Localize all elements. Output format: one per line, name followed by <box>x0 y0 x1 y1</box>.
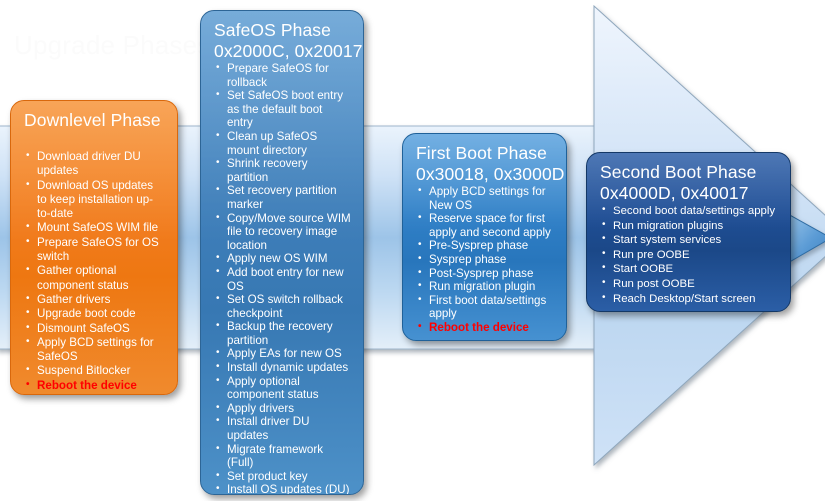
phase-card-safeos[interactable]: SafeOS Phase 0x2000C, 0x20017 Prepare Sa… <box>200 10 364 495</box>
phase-step-item: Post-Sysprep phase <box>416 267 554 281</box>
phase-step-item: Apply BCD settings for SafeOS <box>24 336 165 365</box>
phase-title: Downlevel Phase <box>24 110 165 131</box>
phase-step-item: Install driver DU updates <box>214 415 351 442</box>
phase-step-item: Backup the recovery partition <box>214 320 351 347</box>
phase-step-item: Prepare SafeOS for OS switch <box>24 236 165 265</box>
phase-step-item: Run pre OOBE <box>600 248 778 263</box>
phase-title: Second Boot Phase <box>600 162 778 183</box>
phase-step-item: Shrink recovery partition <box>214 157 351 184</box>
phase-step-item: Dismount SafeOS <box>24 322 165 336</box>
phase-code: 0x2000C, 0x20017 <box>214 41 351 62</box>
arrow-tip-small <box>786 213 825 264</box>
phase-step-item: Apply drivers <box>214 402 351 416</box>
phase-card-second-boot[interactable]: Second Boot Phase 0x4000D, 0x40017 Secon… <box>586 152 791 312</box>
phase-step-item: Apply optional component status <box>214 375 351 402</box>
phase-step-item: Reserve space for first apply and second… <box>416 212 554 239</box>
phase-step-item: Install dynamic updates <box>214 361 351 375</box>
phase-title: First Boot Phase <box>416 143 554 164</box>
phase-step-item: Reach Desktop/Start screen <box>600 292 778 307</box>
phase-step-item: Reboot the device <box>416 321 554 335</box>
phase-step-item: Reboot the device <box>24 379 165 393</box>
phase-step-item: Start OOBE <box>600 262 778 277</box>
phase-step-item: Prepare SafeOS for rollback <box>214 62 351 89</box>
phase-step-list: Prepare SafeOS for rollbackSet SafeOS bo… <box>214 62 351 495</box>
phase-step-item: Clean up SafeOS mount directory <box>214 130 351 157</box>
phase-step-item: Run post OOBE <box>600 277 778 292</box>
phase-step-item: Apply new OS WIM <box>214 252 351 266</box>
phase-step-item: Gather optional component status <box>24 264 165 293</box>
phase-step-item: Start system services <box>600 233 778 248</box>
phase-step-list: Apply BCD settings for New OSReserve spa… <box>416 185 554 335</box>
phase-step-item: First boot data/settings apply <box>416 294 554 321</box>
phase-step-item: Set product key <box>214 470 351 484</box>
ghost-title: Upgrade Phases <box>14 30 210 61</box>
phase-step-item: Add boot entry for new OS <box>214 266 351 293</box>
phase-step-item: Download OS updates to keep installation… <box>24 179 165 222</box>
phase-step-item: Pre-Sysprep phase <box>416 239 554 253</box>
phase-step-list: Download driver DU updatesDownload OS up… <box>24 150 165 393</box>
phase-step-item: Gather drivers <box>24 293 165 307</box>
phase-card-first-boot[interactable]: First Boot Phase 0x30018, 0x3000D Apply … <box>402 133 567 341</box>
phase-step-item: Apply EAs for new OS <box>214 347 351 361</box>
phase-step-item: Set recovery partition marker <box>214 184 351 211</box>
phase-step-item: Second boot data/settings apply <box>600 204 778 219</box>
phase-step-item: Set SafeOS boot entry as the default boo… <box>214 89 351 130</box>
phase-title: SafeOS Phase <box>214 20 351 41</box>
phase-step-item: Copy/Move source WIM file to recovery im… <box>214 212 351 253</box>
phase-step-item: Run migration plugins <box>600 219 778 234</box>
diagram-canvas: Upgrade Phases Downlevel Phase Download … <box>0 0 825 501</box>
phase-code: 0x30018, 0x3000D <box>416 164 554 185</box>
phase-step-list: Second boot data/settings applyRun migra… <box>600 204 778 306</box>
phase-card-downlevel[interactable]: Downlevel Phase Download driver DU updat… <box>10 100 178 395</box>
phase-step-item: Apply BCD settings for New OS <box>416 185 554 212</box>
phase-step-item: Upgrade boot code <box>24 307 165 321</box>
phase-step-item: Set OS switch rollback checkpoint <box>214 293 351 320</box>
phase-step-item: Install OS updates (DU) <box>214 483 351 495</box>
phase-step-item: Migrate framework (Full) <box>214 443 351 470</box>
phase-step-item: Sysprep phase <box>416 253 554 267</box>
phase-step-item: Run migration plugin <box>416 280 554 294</box>
phase-step-item: Mount SafeOS WIM file <box>24 221 165 235</box>
phase-code: 0x4000D, 0x40017 <box>600 183 778 204</box>
phase-step-item: Suspend Bitlocker <box>24 364 165 378</box>
phase-step-item: Download driver DU updates <box>24 150 165 179</box>
